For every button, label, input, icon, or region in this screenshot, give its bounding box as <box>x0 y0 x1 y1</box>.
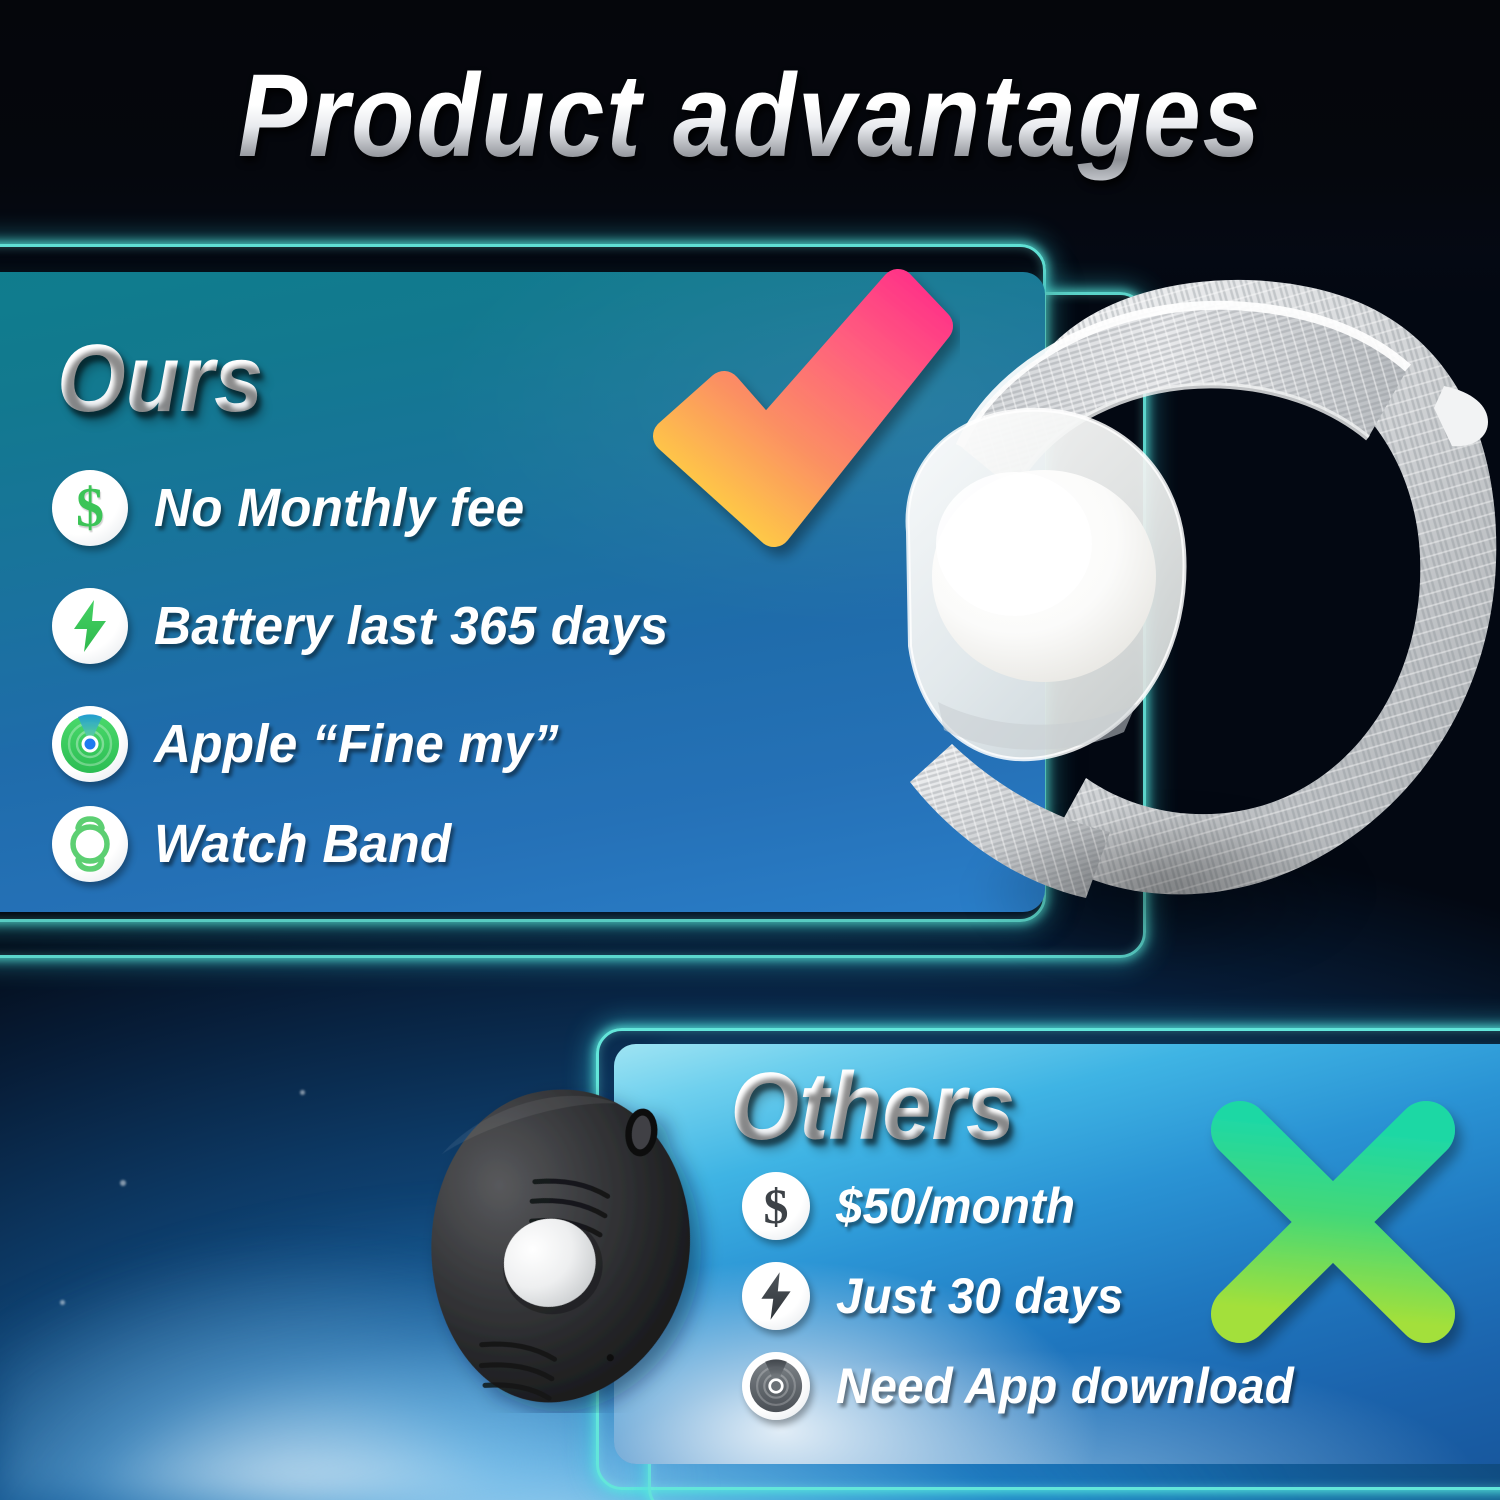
dollar-sign-icon: $ <box>52 470 128 546</box>
ours-feature-row-3[interactable]: Apple “Fine my” <box>52 706 580 782</box>
background-star <box>120 1180 126 1186</box>
ours-feature-row-4[interactable]: Watch Band <box>52 806 467 882</box>
others-feature-label-1: $50/month <box>836 1177 1075 1235</box>
black-bluetooth-tracker-product-image <box>402 1078 742 1413</box>
airtag-wrist-band-product-image <box>848 232 1500 1022</box>
ours-feature-row-2[interactable]: Battery last 365 days <box>52 588 696 664</box>
page-title: Product advantages <box>238 48 1262 184</box>
others-heading: Others <box>730 1052 1015 1162</box>
dollar-glyph: $ <box>764 1181 789 1231</box>
others-feature-label-3: Need App download <box>836 1357 1294 1415</box>
page-header: Product advantages <box>0 0 1500 232</box>
find-my-radar-icon <box>52 706 128 782</box>
background-star <box>60 1300 65 1305</box>
lightning-bolt-icon-gray <box>742 1262 810 1330</box>
lightning-bolt-icon <box>52 588 128 664</box>
ours-feature-row-1[interactable]: $ No Monthly fee <box>52 470 544 546</box>
wrist-band-shadow <box>888 772 1448 1012</box>
others-feature-row-2[interactable]: Just 30 days <box>742 1262 1139 1330</box>
ours-heading: Ours <box>57 324 263 434</box>
find-my-radar-icon-gray <box>742 1352 810 1420</box>
others-feature-row-3[interactable]: Need App download <box>742 1352 1318 1420</box>
ours-feature-label-3: Apple “Fine my” <box>154 713 559 775</box>
ours-feature-label-4: Watch Band <box>154 813 451 875</box>
dollar-glyph: $ <box>76 480 104 536</box>
background-star <box>300 1090 305 1095</box>
others-feature-label-2: Just 30 days <box>836 1267 1123 1325</box>
dollar-sign-icon-gray: $ <box>742 1172 810 1240</box>
others-feature-row-1[interactable]: $ $50/month <box>742 1172 1088 1240</box>
infographic-canvas: Product advantages Ours $ No Monthly fee… <box>0 0 1500 1500</box>
watch-band-icon <box>52 806 128 882</box>
ours-feature-label-1: No Monthly fee <box>154 477 524 539</box>
ours-feature-label-2: Battery last 365 days <box>154 595 668 657</box>
x-mark-icon <box>1188 1082 1478 1362</box>
